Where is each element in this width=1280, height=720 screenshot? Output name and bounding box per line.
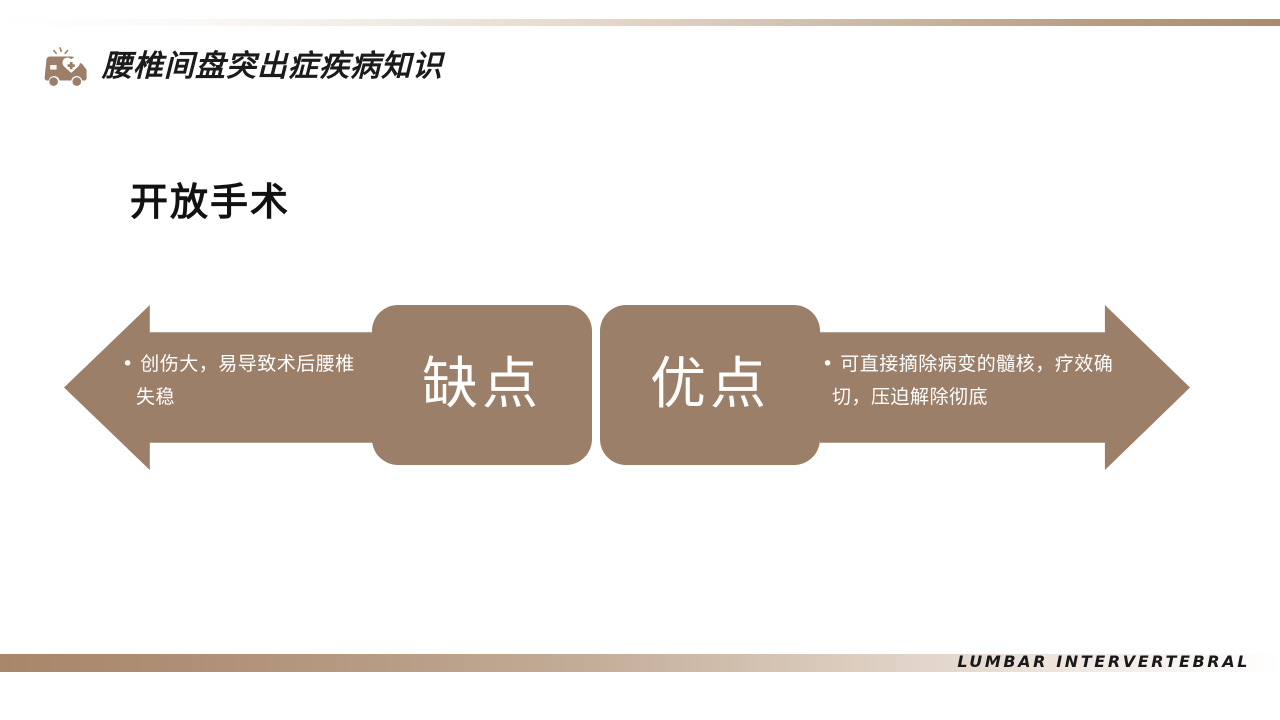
footer-caption: LUMBAR INTERVERTEBRAL <box>957 652 1250 671</box>
advantage-box[interactable]: 优点 <box>600 305 820 465</box>
slide-header: 腰椎间盘突出症疾病知识 <box>36 46 443 88</box>
slide-canvas: 腰椎间盘突出症疾病知识 开放手术 • 创伤大，易导致术后腰椎失稳 缺点 优点 •… <box>0 0 1280 720</box>
top-gradient-rule <box>0 19 1280 26</box>
right-arrow-text: • 可直接摘除病变的髓核，疗效确切，压迫解除彻底 <box>826 348 1132 415</box>
page-title: 腰椎间盘突出症疾病知识 <box>102 52 443 82</box>
left-arrow-text: • 创伤大，易导致术后腰椎失稳 <box>130 348 368 415</box>
disadvantage-label: 缺点 <box>422 357 542 413</box>
advantage-label: 优点 <box>650 357 770 413</box>
disadvantage-box[interactable]: 缺点 <box>372 305 592 465</box>
section-heading: 开放手术 <box>130 182 290 224</box>
comparison-diagram: • 创伤大，易导致术后腰椎失稳 缺点 优点 • 可直接摘除病变的髓核，疗效确切，… <box>0 300 1280 475</box>
ambulance-icon <box>36 46 88 88</box>
